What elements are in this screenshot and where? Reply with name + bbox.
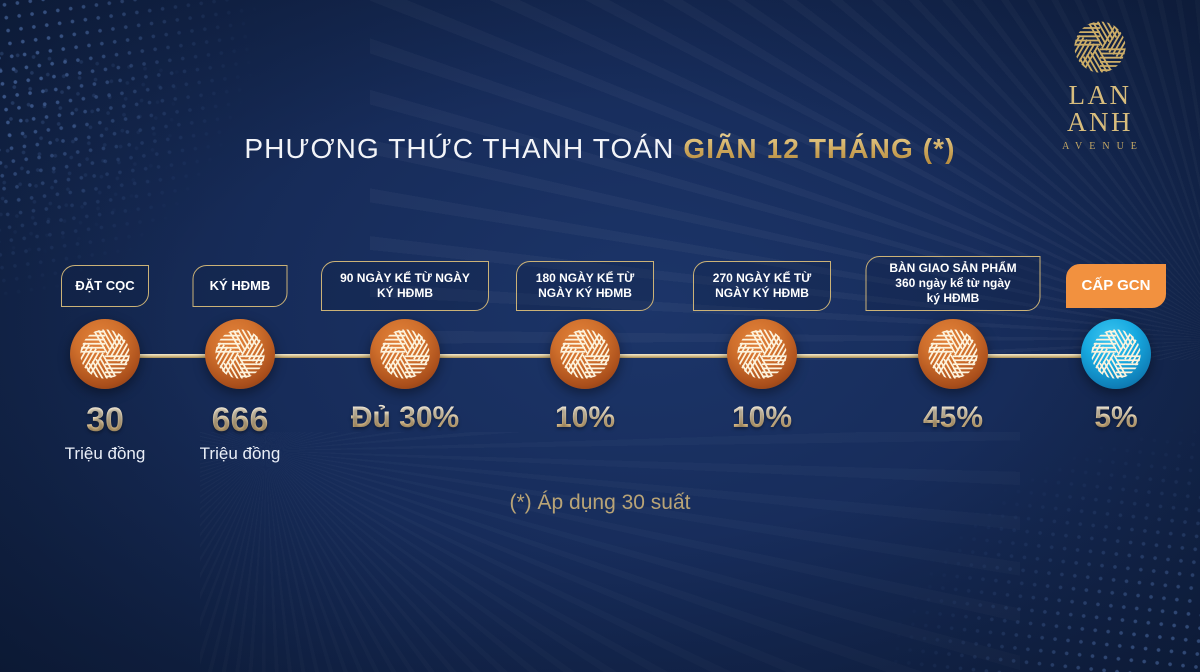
step-label-line: KÝ HĐMB bbox=[210, 278, 271, 294]
timeline-node-dat-coc[interactable] bbox=[70, 319, 140, 389]
step-label-line: NGÀY KÝ HĐMB bbox=[536, 286, 634, 301]
step-value-dat-coc: 30 bbox=[86, 401, 124, 440]
step-label-line: BÀN GIAO SẢN PHẨM bbox=[889, 261, 1016, 276]
timeline-node-ban-giao[interactable] bbox=[918, 319, 988, 389]
step-label-box-cap-gcn[interactable]: CẤP GCN bbox=[1066, 264, 1166, 308]
step-label-line: 180 NGÀY KỂ TỪ bbox=[536, 271, 634, 286]
step-label-box-270-ngay[interactable]: 270 NGÀY KỂ TỪNGÀY KÝ HĐMB bbox=[693, 261, 831, 311]
step-value-ban-giao: 45% bbox=[923, 401, 983, 435]
footnote: (*) Áp dụng 30 suất bbox=[0, 491, 1200, 515]
page-title-plain: PHƯƠNG THỨC THANH TOÁN bbox=[244, 133, 674, 164]
timeline-node-180-ngay[interactable] bbox=[550, 319, 620, 389]
step-value-ky-hdmb: 666 bbox=[212, 401, 269, 440]
pinwheel-icon bbox=[557, 326, 613, 382]
timeline-node-cap-gcn[interactable] bbox=[1081, 319, 1151, 389]
step-label-line: CẤP GCN bbox=[1082, 277, 1151, 296]
pinwheel-icon bbox=[925, 326, 981, 382]
step-label-line: NGÀY KÝ HĐMB bbox=[713, 286, 811, 301]
step-label-box-180-ngay[interactable]: 180 NGÀY KỂ TỪNGÀY KÝ HĐMB bbox=[516, 261, 654, 311]
timeline: ĐẶT CỌC30Triệu đồngKÝ HĐMB666Triệu đồng9… bbox=[0, 240, 1200, 480]
pinwheel-icon bbox=[734, 326, 790, 382]
timeline-node-270-ngay[interactable] bbox=[727, 319, 797, 389]
step-value-cap-gcn: 5% bbox=[1094, 401, 1137, 435]
timeline-node-90-ngay[interactable] bbox=[370, 319, 440, 389]
step-unit-dat-coc: Triệu đồng bbox=[65, 444, 146, 464]
page-title: PHƯƠNG THỨC THANH TOÁN GIÃN 12 THÁNG (*) bbox=[0, 133, 1200, 165]
brand-logo: LAN ANH AVENUE bbox=[1034, 18, 1166, 152]
step-label-box-ban-giao[interactable]: BÀN GIAO SẢN PHẨM360 ngày kể từ ngàyký H… bbox=[866, 256, 1041, 311]
step-label-box-90-ngay[interactable]: 90 NGÀY KỂ TỪ NGÀYKÝ HĐMB bbox=[321, 261, 489, 311]
step-label-line: KÝ HĐMB bbox=[340, 286, 470, 301]
payment-schedule-infographic: LAN ANH AVENUE PHƯƠNG THỨC THANH TOÁN GI… bbox=[0, 0, 1200, 672]
lananh-pinwheel-logo-icon bbox=[1071, 18, 1129, 76]
step-label-line: 270 NGÀY KỂ TỪ bbox=[713, 271, 811, 286]
brand-name: LAN ANH bbox=[1034, 82, 1166, 136]
step-label-line: 90 NGÀY KỂ TỪ NGÀY bbox=[340, 271, 470, 286]
step-label-line: ký HĐMB bbox=[889, 291, 1016, 306]
pinwheel-icon bbox=[212, 326, 268, 382]
step-label-box-ky-hdmb[interactable]: KÝ HĐMB bbox=[193, 265, 288, 307]
step-value-180-ngay: 10% bbox=[555, 401, 615, 435]
pinwheel-icon bbox=[77, 326, 133, 382]
step-value-270-ngay: 10% bbox=[732, 401, 792, 435]
step-value-90-ngay: Đủ 30% bbox=[351, 401, 459, 435]
step-label-line: ĐẶT CỌC bbox=[75, 278, 134, 294]
pinwheel-icon bbox=[1088, 326, 1144, 382]
step-label-line: 360 ngày kể từ ngày bbox=[889, 276, 1016, 291]
timeline-node-ky-hdmb[interactable] bbox=[205, 319, 275, 389]
page-title-highlight: GIÃN 12 THÁNG (*) bbox=[683, 133, 955, 164]
step-unit-ky-hdmb: Triệu đồng bbox=[200, 444, 281, 464]
step-label-box-dat-coc[interactable]: ĐẶT CỌC bbox=[61, 265, 149, 307]
pinwheel-icon bbox=[377, 326, 433, 382]
